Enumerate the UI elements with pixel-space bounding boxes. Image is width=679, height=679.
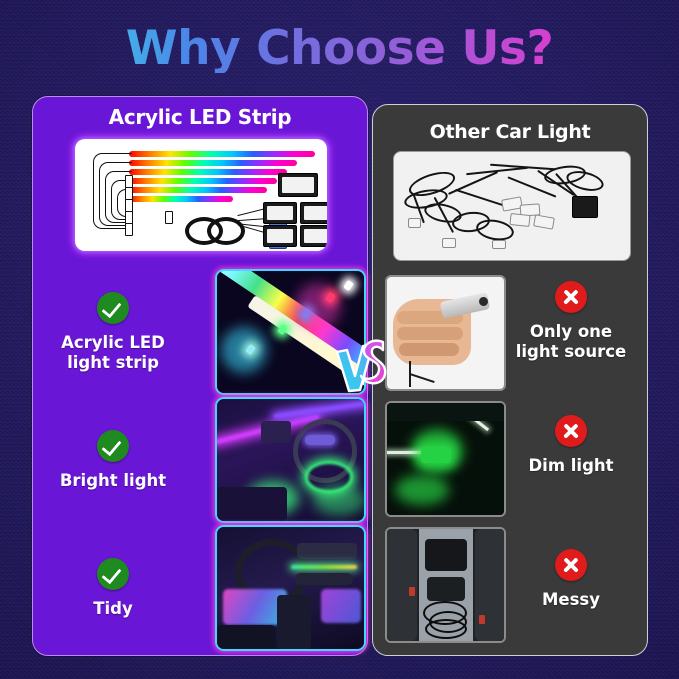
feature-label-acrylic: Acrylic LED light strip <box>61 333 165 373</box>
left-hero-image <box>75 139 327 251</box>
feature-row-only-one-light-source: Only one light source <box>381 275 641 393</box>
feature-row-bright-light: Bright light <box>47 397 355 523</box>
other-car-light-panel: Other Car Light <box>372 104 648 656</box>
feature-label-tidy: Tidy <box>93 599 132 619</box>
vs-badge <box>333 336 389 394</box>
accessory-card-2 <box>263 202 297 224</box>
x-circle-icon <box>555 415 587 447</box>
check-circle-icon <box>97 430 129 462</box>
right-panel-title: Other Car Light <box>373 121 647 143</box>
feature-label-messy: Messy <box>542 590 600 610</box>
thumbnail-single-light-source <box>385 275 506 391</box>
feature-label-line2: light source <box>516 342 627 361</box>
feature-label-only-one-light-source: Only one light source <box>516 322 627 362</box>
accessory-card-5 <box>300 225 327 247</box>
tangled-wires-art <box>394 152 630 260</box>
acrylic-led-strip-panel: Acrylic LED Strip <box>32 96 368 656</box>
feature-label-line2: light strip <box>67 353 159 372</box>
feature-label-line1: Acrylic LED <box>61 333 165 352</box>
feature-row-acrylic-led-light-strip: Acrylic LED light strip <box>47 269 355 395</box>
x-circle-icon <box>555 549 587 581</box>
check-circle-icon <box>97 558 129 590</box>
feature-label-line1: Only one <box>530 322 612 341</box>
thumbnail-bright-car-interior <box>215 397 366 523</box>
cable-coil <box>185 217 241 239</box>
thumbnail-dim-green-light <box>385 401 506 517</box>
left-panel-title: Acrylic LED Strip <box>33 105 367 129</box>
thumbnail-messy-console <box>385 527 506 643</box>
x-circle-icon <box>555 281 587 313</box>
feature-label-bright-light: Bright light <box>60 471 166 491</box>
feature-label-dim-light: Dim light <box>528 456 613 476</box>
right-hero-image <box>393 151 631 261</box>
feature-row-messy: Messy <box>381 527 641 645</box>
page-title: Why Choose Us? <box>0 24 679 73</box>
check-circle-icon <box>97 292 129 324</box>
feature-row-tidy: Tidy <box>47 525 355 651</box>
accessory-card-4 <box>263 225 297 247</box>
thumbnail-tidy-car-interior <box>215 525 366 651</box>
feature-row-dim-light: Dim light <box>381 401 641 519</box>
accessory-card-3 <box>300 202 327 224</box>
accessory-card-1 <box>278 173 318 197</box>
